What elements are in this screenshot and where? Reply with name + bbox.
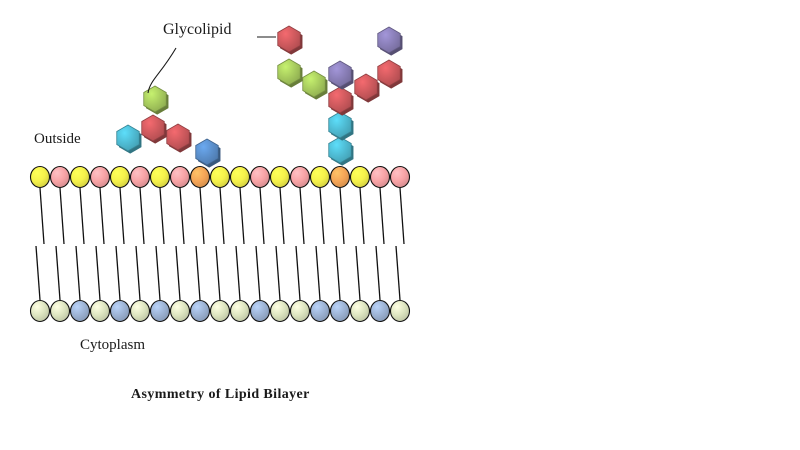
inner-lipid-tail	[76, 246, 80, 300]
lipid-head-group	[291, 301, 310, 322]
lipid-head-group	[251, 301, 270, 322]
outer-lipid-tail	[100, 188, 104, 244]
outer-lipid-tail	[240, 188, 244, 244]
lipid-head-group	[171, 167, 190, 188]
glycan-chains	[117, 26, 403, 168]
outer-lipid-tail	[180, 188, 184, 244]
outer-leaflet	[31, 167, 410, 188]
outer-lipid-tail	[320, 188, 324, 244]
lipid-head-group	[191, 301, 210, 322]
lipid-head-group	[131, 167, 150, 188]
lipid-head-group	[351, 167, 370, 188]
outer-lipid-tail	[60, 188, 64, 244]
lipid-head-group	[31, 167, 50, 188]
lipid-head-group	[51, 167, 70, 188]
inner-lipid-tail	[56, 246, 60, 300]
lipid-head-group	[171, 301, 190, 322]
outer-lipid-tail	[340, 188, 344, 244]
outer-lipid-tail	[220, 188, 224, 244]
lipid-head-group	[371, 301, 390, 322]
outer-lipid-tail	[160, 188, 164, 244]
glycolipid-leader-curve	[148, 48, 176, 93]
glycolipid-leader-lines	[148, 37, 276, 93]
lipid-head-group	[151, 167, 170, 188]
outer-lipid-tail	[280, 188, 284, 244]
inner-lipid-tail	[96, 246, 100, 300]
lipid-head-group	[151, 301, 170, 322]
outer-lipid-tail	[140, 188, 144, 244]
inner-lipid-tail	[176, 246, 180, 300]
lipid-head-group	[291, 167, 310, 188]
lipid-head-group	[251, 167, 270, 188]
outside-label: Outside	[34, 131, 81, 148]
lipid-head-group	[311, 167, 330, 188]
fatty-acid-tails	[36, 188, 404, 300]
lipid-head-group	[271, 301, 290, 322]
lipid-head-group	[91, 301, 110, 322]
lipid-head-group	[391, 301, 410, 322]
inner-lipid-tail	[376, 246, 380, 300]
lipid-head-group	[351, 301, 370, 322]
lipid-head-group	[51, 301, 70, 322]
lipid-head-group	[231, 167, 250, 188]
inner-lipid-tail	[36, 246, 40, 300]
inner-lipid-tail	[316, 246, 320, 300]
diagram-title: Asymmetry of Lipid Bilayer	[131, 387, 310, 403]
inner-lipid-tail	[196, 246, 200, 300]
inner-lipid-tail	[396, 246, 400, 300]
lipid-head-group	[71, 167, 90, 188]
outer-lipid-tail	[300, 188, 304, 244]
lipid-head-group	[371, 167, 390, 188]
membrane-illustration	[0, 0, 800, 450]
lipid-head-group	[211, 301, 230, 322]
inner-leaflet	[31, 301, 410, 322]
inner-lipid-tail	[156, 246, 160, 300]
inner-lipid-tail	[296, 246, 300, 300]
lipid-head-group	[271, 167, 290, 188]
lipid-head-group	[331, 301, 350, 322]
lipid-head-group	[391, 167, 410, 188]
lipid-head-group	[111, 301, 130, 322]
lipid-head-group	[191, 167, 210, 188]
right-glycoprotein-chain	[278, 26, 403, 166]
outer-lipid-tail	[120, 188, 124, 244]
lipid-head-group	[71, 301, 90, 322]
lipid-head-group	[31, 301, 50, 322]
lipid-head-group	[131, 301, 150, 322]
outer-lipid-tail	[200, 188, 204, 244]
inner-lipid-tail	[336, 246, 340, 300]
inner-lipid-tail	[116, 246, 120, 300]
outer-lipid-tail	[400, 188, 404, 244]
lipid-head-group	[231, 301, 250, 322]
inner-lipid-tail	[216, 246, 220, 300]
inner-lipid-tail	[236, 246, 240, 300]
lipid-head-group	[311, 301, 330, 322]
glycolipid-label: Glycolipid	[163, 21, 231, 39]
left-glycolipid-chain	[117, 86, 221, 168]
lipid-head-group	[91, 167, 110, 188]
inner-lipid-tail	[256, 246, 260, 300]
outer-lipid-tail	[360, 188, 364, 244]
outer-lipid-tail	[40, 188, 44, 244]
inner-lipid-tail	[276, 246, 280, 300]
lipid-head-group	[331, 167, 350, 188]
lipid-head-group	[111, 167, 130, 188]
inner-lipid-tail	[356, 246, 360, 300]
outer-lipid-tail	[80, 188, 84, 244]
lipid-bilayer-diagram: Glycolipid Outside Cytoplasm Asymmetry o…	[0, 0, 800, 450]
outer-lipid-tail	[260, 188, 264, 244]
lipid-head-group	[211, 167, 230, 188]
outer-lipid-tail	[380, 188, 384, 244]
inner-lipid-tail	[136, 246, 140, 300]
cytoplasm-label: Cytoplasm	[80, 337, 145, 354]
